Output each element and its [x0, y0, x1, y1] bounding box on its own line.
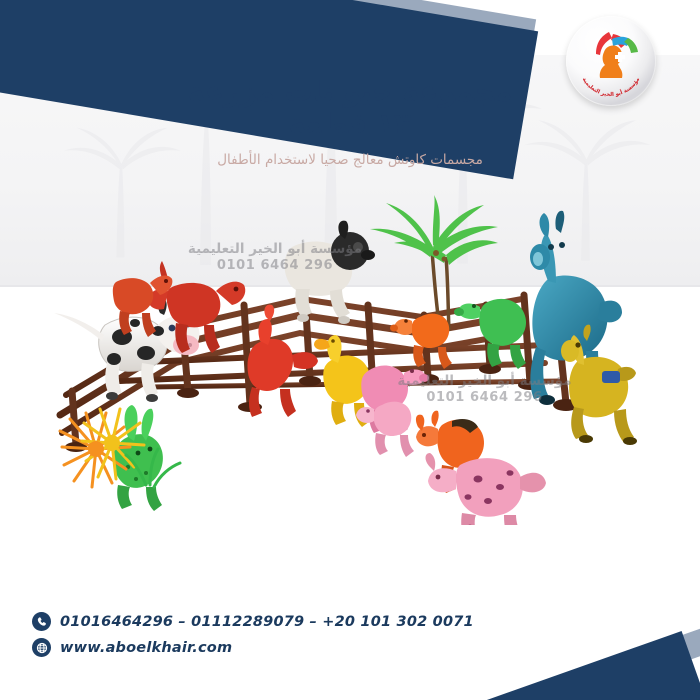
- headline-block: مجموعة حيوانات مزرعة ١٣ قطعة: [0, 76, 700, 140]
- product-photo: [0, 195, 700, 525]
- footer-website[interactable]: www.aboelkhair.com: [60, 640, 232, 656]
- page-subtitle: مجسمات كاوتش معالج صحيا لاستخدام الأطفال: [0, 152, 700, 168]
- toy-dog-pink-spotted: [426, 453, 547, 525]
- toy-animal-pink-small: [356, 402, 414, 457]
- phone-icon: [32, 612, 51, 631]
- footer-phone-numbers[interactable]: 01016464296 – 01112289079 – +20 101 302 …: [60, 614, 474, 630]
- globe-icon: [32, 638, 51, 657]
- toy-pig-green: [454, 299, 526, 369]
- page-title-line-2: ١٣ قطعة: [0, 108, 700, 140]
- footer-website-row: www.aboelkhair.com: [32, 638, 474, 657]
- toy-rabbit-green: [113, 405, 162, 511]
- footer-contact: 01016464296 – 01112289079 – +20 101 302 …: [32, 612, 474, 664]
- page-title-line-1: مجموعة حيوانات مزرعة: [0, 76, 700, 108]
- toy-pig-orange: [390, 314, 452, 369]
- footer-phone-row: 01016464296 – 01112289079 – +20 101 302 …: [32, 612, 474, 631]
- poster-canvas: مؤسسة أبو الخير التعليمية مجموعة حيوانات…: [0, 0, 700, 700]
